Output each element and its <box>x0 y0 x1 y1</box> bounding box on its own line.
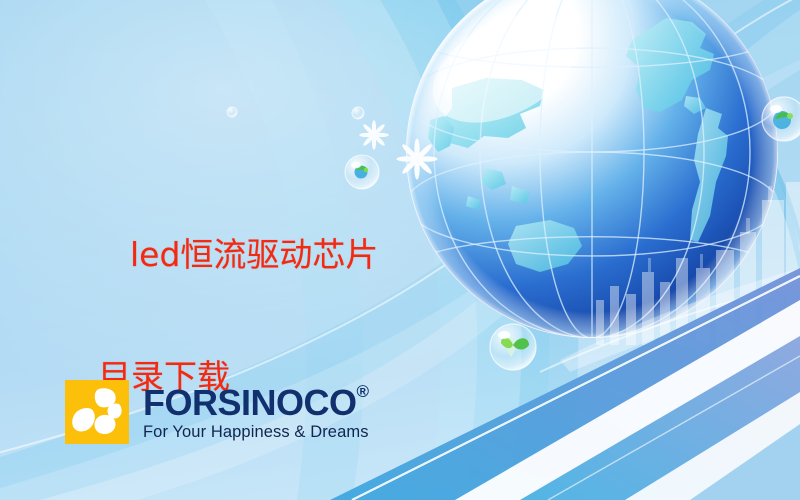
promo-banner: led恒流驱动芯片 目录下载 FORSINOCO® For Your Happi… <box>0 0 800 500</box>
pinwheel-flower-icon <box>65 380 129 444</box>
headline-line-1: led恒流驱动芯片 <box>130 235 378 274</box>
logo-wordmark: FORSINOCO® <box>143 383 369 421</box>
logo-tagline: For Your Happiness & Dreams <box>143 424 369 441</box>
logo-wordmark-text: FORSINOCO <box>143 382 357 423</box>
brand-logo: FORSINOCO® For Your Happiness & Dreams <box>65 380 369 444</box>
headline: led恒流驱动芯片 目录下载 <box>88 163 378 500</box>
logo-text-block: FORSINOCO® For Your Happiness & Dreams <box>143 383 369 441</box>
registered-trademark-icon: ® <box>357 382 370 401</box>
